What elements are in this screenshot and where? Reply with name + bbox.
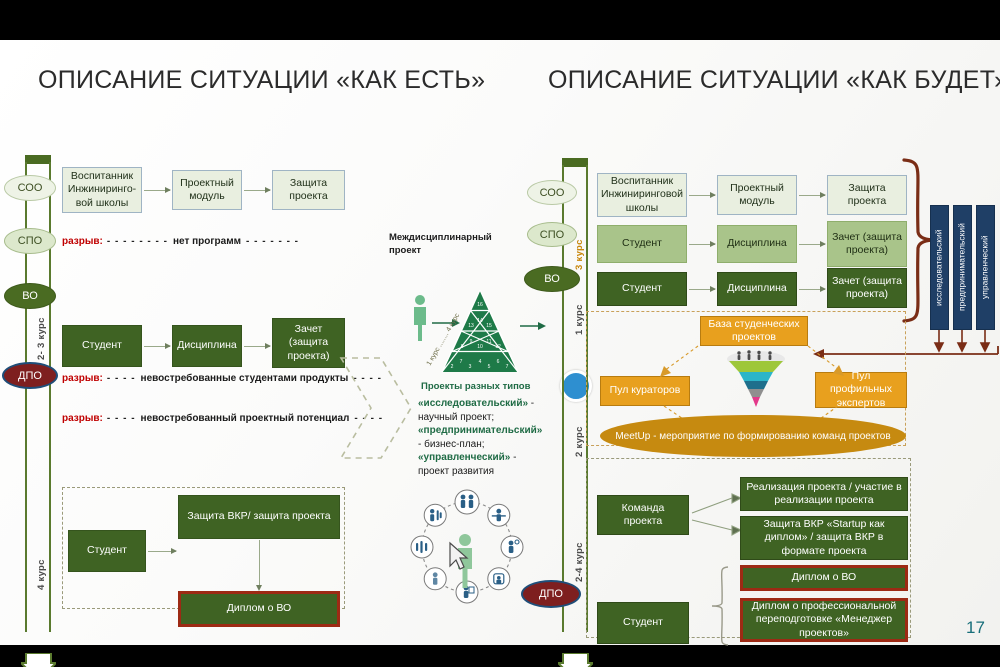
to-be-box-discipline-3[interactable]: Дисциплина xyxy=(717,272,797,306)
to-be-box-module-label: Проектный модуль xyxy=(722,182,792,208)
pyramid-caption: Проекты разных типов xyxy=(421,381,530,392)
as-is-box-pupil[interactable]: Воспитанник Инжиниринго-вой школы xyxy=(62,167,142,213)
pyramid-arc-labels: 1 курс ........ 4 курс xyxy=(425,288,485,376)
as-is-stage-vo-label: ВО xyxy=(22,290,38,302)
to-be-stage-soo-label: СОО xyxy=(540,187,565,199)
as-is-bottom-defense-label: Защита ВКР/ защита проекта xyxy=(187,510,330,523)
to-be-course-label-1: 1 курс xyxy=(574,293,585,335)
to-be-box-discipline-2-label: Дисциплина xyxy=(727,237,786,250)
as-is-arrow-4 xyxy=(244,346,270,347)
as-is-box-discipline-label: Дисциплина xyxy=(177,339,236,352)
as-is-course-label-4: 4 курс xyxy=(36,538,47,590)
pyramid-right-arrow-icon xyxy=(520,318,548,334)
to-be-arrow-5 xyxy=(689,289,715,290)
project-type-1-tail: - бизнес-план; xyxy=(418,439,485,450)
to-be-track-research-label: исследовательский xyxy=(935,229,945,306)
to-be-track-management-label: управленческий xyxy=(981,236,991,300)
to-be-vkr[interactable]: Защита ВКР «Startup как диплом» / защита… xyxy=(740,516,908,560)
as-is-bottom-defense[interactable]: Защита ВКР/ защита проекта xyxy=(178,495,340,539)
interdisciplinary-project-label: Междисциплинарный проект xyxy=(389,232,499,258)
to-be-team[interactable]: Команда проекта xyxy=(597,495,689,535)
project-types-list: «исследовательский» - научный проект; «п… xyxy=(418,397,538,478)
to-be-team-label: Команда проекта xyxy=(602,502,684,528)
as-is-box-credit[interactable]: Зачет (защита проекта) xyxy=(272,318,345,368)
as-is-spine-arrow xyxy=(21,632,55,654)
as-is-gap-3-dash-left: - - - - xyxy=(107,413,136,424)
to-be-box-student-3[interactable]: Студент xyxy=(597,272,687,306)
to-be-realization[interactable]: Реализация проекта / участие в реализаци… xyxy=(740,477,908,511)
as-is-gap-1-label: разрыв: xyxy=(62,236,103,247)
as-is-gap-2-label: разрыв: xyxy=(62,373,103,384)
as-is-gap-3-text: невостребованный проектный потенциал xyxy=(141,413,350,424)
svg-text:1 курс ........ 4 курс: 1 курс ........ 4 курс xyxy=(426,312,462,367)
as-is-bottom-student-label: Студент xyxy=(87,544,127,557)
to-be-box-credit-2[interactable]: Зачет (защита проекта) xyxy=(827,221,907,267)
svg-text:6: 6 xyxy=(497,359,500,365)
to-be-arrow-6 xyxy=(799,289,825,290)
svg-text:11: 11 xyxy=(486,339,491,345)
project-type-2-hl: «управленческий» xyxy=(418,452,510,463)
to-be-course-label-2: 2 курс xyxy=(574,415,585,457)
to-be-box-student-2[interactable]: Студент xyxy=(597,225,687,263)
to-be-box-credit-3-label: Зачет (защита проекта) xyxy=(832,275,902,301)
as-is-bottom-student[interactable]: Студент xyxy=(68,530,146,572)
to-be-diploma-vo-label: Диплом о ВО xyxy=(792,571,856,584)
as-is-box-credit-label: Зачет (защита проекта) xyxy=(277,323,340,362)
svg-text:7: 7 xyxy=(506,364,509,370)
to-be-box-student-2-label: Студент xyxy=(622,237,662,250)
to-be-vkr-label: Защита ВКР «Startup как диплом» / защита… xyxy=(745,518,903,557)
to-be-stage-dpo[interactable]: ДПО xyxy=(521,580,581,608)
to-be-box-module[interactable]: Проектный модуль xyxy=(717,175,797,215)
people-network-icon xyxy=(405,485,530,610)
as-is-box-discipline[interactable]: Дисциплина xyxy=(172,325,242,367)
to-be-course-label-24: 2-4 курс xyxy=(574,530,585,582)
page-title-right: ОПИСАНИЕ СИТУАЦИИ «КАК БУДЕТ» xyxy=(548,66,1000,95)
svg-text:5: 5 xyxy=(488,364,491,370)
as-is-gap-2: разрыв: - - - - невостребованные студент… xyxy=(62,373,382,384)
as-is-box-defense-label: Защита проекта xyxy=(277,177,340,203)
interdisciplinary-project-text: Междисциплинарный проект xyxy=(389,232,492,256)
to-be-student-bottom[interactable]: Студент xyxy=(597,602,689,644)
as-is-gap-2-dash-left: - - - - xyxy=(107,373,136,384)
to-be-realization-label: Реализация проекта / участие в реализаци… xyxy=(745,481,903,507)
as-is-box-student-label: Студент xyxy=(82,339,122,352)
project-type-0-hl: «исследовательский» xyxy=(418,398,528,409)
to-be-arrow-4 xyxy=(799,244,825,245)
as-is-gap-1-dash-right: - - - - - - - xyxy=(246,236,299,247)
to-be-arrow-2 xyxy=(799,195,825,196)
to-be-diploma-prof[interactable]: Диплом о профессиональной переподготовке… xyxy=(740,598,908,642)
as-is-bottom-diploma[interactable]: Диплом о ВО xyxy=(178,591,340,627)
page-number: 17 xyxy=(966,618,985,638)
to-be-diploma-prof-label: Диплом о профессиональной переподготовке… xyxy=(747,600,901,639)
to-be-meetup-oval[interactable]: MeetUp - мероприятие по формированию ком… xyxy=(600,415,906,457)
as-is-bottom-diploma-label: Диплом о ВО xyxy=(227,602,291,615)
as-is-arrow-1 xyxy=(144,190,170,191)
project-type-1: «предпринимательский» - бизнес-план; xyxy=(418,424,538,451)
slide-root: ОПИСАНИЕ СИТУАЦИИ «КАК ЕСТЬ» ОПИСАНИЕ СИ… xyxy=(0,0,1000,667)
as-is-arrow-6 xyxy=(259,540,260,585)
to-be-box-pupil-label: Воспитанник Инжиниринговой школы xyxy=(601,175,683,214)
project-type-0: «исследовательский» - научный проект; xyxy=(418,397,538,424)
to-be-track-business-label: предпринимательский xyxy=(958,224,968,312)
to-be-track-business[interactable]: предпринимательский xyxy=(953,205,972,330)
as-is-gap-1-dash-left: - - - - - - - - xyxy=(107,236,168,247)
transition-chevron-icon xyxy=(336,353,416,463)
as-is-arrow-3 xyxy=(144,346,170,347)
as-is-stage-dpo-label: ДПО xyxy=(18,370,42,382)
as-is-gap-3: разрыв: - - - - невостребованный проектн… xyxy=(62,413,383,424)
to-be-stage-soo[interactable]: СОО xyxy=(527,180,577,205)
to-be-box-defense[interactable]: Защита проекта xyxy=(827,175,907,215)
to-be-box-student-3-label: Студент xyxy=(622,282,662,295)
to-be-stage-spo[interactable]: СПО xyxy=(527,222,577,247)
svg-text:15: 15 xyxy=(486,323,492,329)
as-is-stage-spo[interactable]: СПО xyxy=(4,228,56,254)
svg-text:12: 12 xyxy=(495,344,501,350)
slide-canvas: ОПИСАНИЕ СИТУАЦИИ «КАК ЕСТЬ» ОПИСАНИЕ СИ… xyxy=(0,40,1000,645)
as-is-box-pupil-label: Воспитанник Инжиниринго-вой школы xyxy=(67,170,137,209)
project-type-2: «управленческий» - проект развития xyxy=(418,451,538,478)
to-be-arrow-3 xyxy=(689,244,715,245)
to-be-stage-vo[interactable]: ВО xyxy=(524,266,580,292)
as-is-gap-3-label: разрыв: xyxy=(62,413,103,424)
project-type-1-hl: «предпринимательский» xyxy=(418,425,542,436)
to-be-box-pupil[interactable]: Воспитанник Инжиниринговой школы xyxy=(597,173,687,217)
to-be-student-bottom-label: Студент xyxy=(623,616,663,629)
as-is-stage-vo[interactable]: ВО xyxy=(4,283,56,309)
to-be-box-credit-3[interactable]: Зачет (защита проекта) xyxy=(827,268,907,308)
as-is-gap-2-text: невостребованные студентами продукты xyxy=(141,373,349,384)
as-is-stage-soo-label: СОО xyxy=(18,182,43,194)
to-be-box-defense-label: Защита проекта xyxy=(832,182,902,208)
as-is-gap-1: разрыв: - - - - - - - - нет программ - -… xyxy=(62,236,299,247)
as-is-stage-soo[interactable]: СОО xyxy=(4,175,56,201)
to-be-box-discipline-2[interactable]: Дисциплина xyxy=(717,225,797,263)
as-is-gap-1-text: нет программ xyxy=(173,236,241,247)
page-title-left: ОПИСАНИЕ СИТУАЦИИ «КАК ЕСТЬ» xyxy=(38,66,485,95)
as-is-box-module-label: Проектный модуль xyxy=(177,177,237,203)
to-be-track-research[interactable]: исследовательский xyxy=(930,205,949,330)
as-is-arrow-2 xyxy=(244,190,270,191)
to-be-stage-dpo-label: ДПО xyxy=(539,588,563,600)
as-is-box-student[interactable]: Студент xyxy=(62,325,142,367)
to-be-track-management[interactable]: управленческий xyxy=(976,205,995,330)
to-be-diploma-vo[interactable]: Диплом о ВО xyxy=(740,565,908,591)
as-is-stage-spo-label: СПО xyxy=(18,235,42,247)
as-is-box-defense[interactable]: Защита проекта xyxy=(272,170,345,210)
to-be-stage-spo-label: СПО xyxy=(540,229,564,241)
to-be-stage-vo-label: ВО xyxy=(544,273,560,285)
as-is-stage-dpo[interactable]: ДПО xyxy=(2,362,58,389)
student-brace-icon xyxy=(710,565,732,647)
as-is-arrow-5 xyxy=(148,551,176,552)
to-be-meetup-label: MeetUp - мероприятие по формированию ком… xyxy=(615,430,890,443)
to-be-box-discipline-3-label: Дисциплина xyxy=(727,282,786,295)
as-is-box-module[interactable]: Проектный модуль xyxy=(172,170,242,210)
to-be-arrow-1 xyxy=(689,195,715,196)
to-be-box-credit-2-label: Зачет (защита проекта) xyxy=(832,231,902,257)
team-branch-arrows-icon xyxy=(690,480,745,550)
